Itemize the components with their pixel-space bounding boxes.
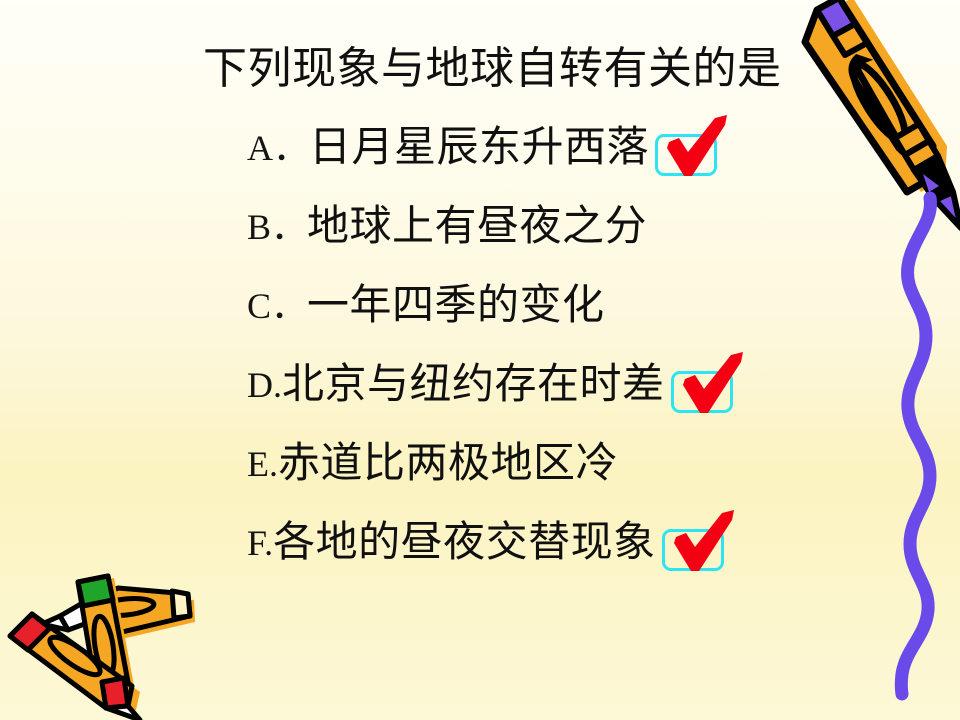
question-title: 下列现象与地球自转有关的是 [203, 44, 782, 95]
option-text-f: 各地的昼夜交替现象 [273, 519, 656, 567]
option-text-a: 日月星辰东升西落 [309, 124, 649, 172]
option-text-d: 北京与纽约存在时差 [282, 361, 665, 409]
option-row-d[interactable]: D. 北京与纽约存在时差 [0, 361, 960, 440]
option-checkbox-a[interactable] [655, 126, 727, 178]
slide-canvas: 下列现象与地球自转有关的是 A． 日月星辰东升西落 B． 地球上有昼夜之分 C． [0, 0, 960, 720]
option-row-e[interactable]: E. 赤道比两极地区冷 [0, 440, 960, 519]
option-checkbox-d[interactable] [671, 363, 743, 415]
checkbox-outline-a [655, 134, 717, 176]
checkbox-outline-f [662, 529, 724, 571]
checkbox-outline-d [671, 371, 733, 413]
option-letter-f: F. [247, 519, 273, 567]
option-letter-e: E. [247, 440, 278, 488]
option-letter-d: D. [247, 361, 282, 409]
purple-squiggle-line [888, 196, 960, 696]
option-text-b: 地球上有昼夜之分 [307, 203, 647, 251]
option-text-c: 一年四季的变化 [307, 282, 605, 330]
crayons-icon-bottom-left [2, 560, 217, 720]
option-letter-b: B． [247, 203, 307, 251]
option-row-c[interactable]: C． 一年四季的变化 [0, 282, 960, 361]
option-text-e: 赤道比两极地区冷 [278, 440, 618, 488]
option-checkbox-f[interactable] [662, 521, 734, 573]
option-letter-a: A． [247, 124, 309, 172]
option-letter-c: C． [247, 282, 307, 330]
